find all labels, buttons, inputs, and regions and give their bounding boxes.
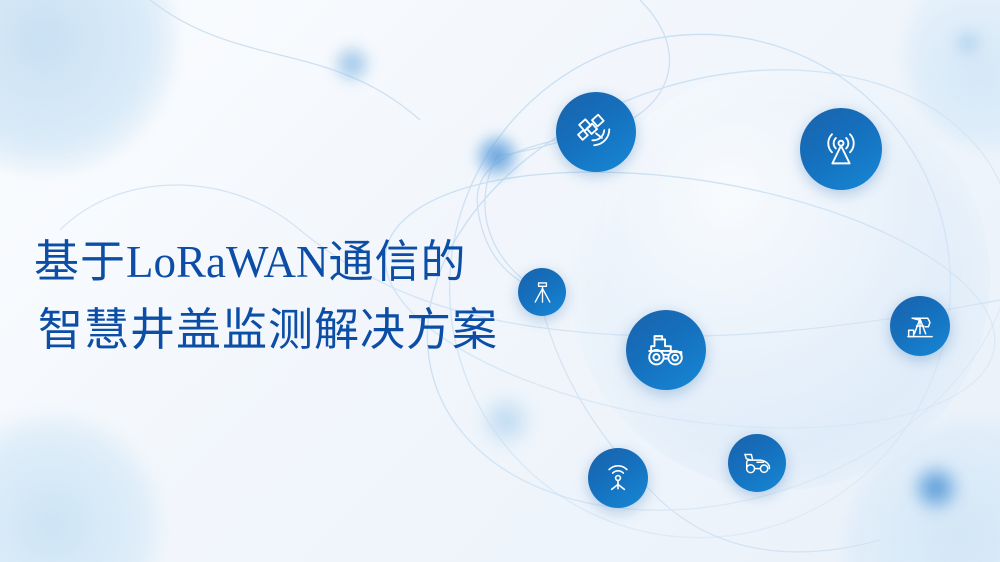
title-block: 基于LoRaWAN通信的 智慧井盖监测解决方案	[34, 228, 498, 364]
node-oil-pump[interactable]	[890, 296, 950, 356]
page-title-line-1: 基于LoRaWAN通信的	[34, 228, 498, 296]
node-radio-tower[interactable]	[800, 108, 882, 190]
title-prefix: 基于	[34, 236, 126, 287]
node-satellite[interactable]	[556, 92, 636, 172]
glow-dot	[478, 393, 534, 449]
glow-dot	[910, 462, 962, 514]
background-blob-bottom-left	[0, 415, 162, 562]
node-sensor-beacon[interactable]	[588, 448, 648, 508]
satellite-dish-icon	[574, 110, 618, 154]
page-title-line-2: 智慧井盖监测解决方案	[34, 296, 498, 364]
harvester-icon	[740, 446, 774, 480]
node-survey-tripod[interactable]	[518, 268, 566, 316]
glow-dot	[330, 42, 374, 86]
node-harvester[interactable]	[728, 434, 786, 492]
radio-tower-icon	[818, 126, 864, 172]
glow-dot	[950, 25, 986, 61]
glow-dot	[472, 131, 522, 181]
tractor-icon	[643, 327, 689, 373]
title-suffix: 通信的	[328, 236, 466, 287]
node-tractor[interactable]	[626, 310, 706, 390]
oil-pumpjack-icon	[903, 309, 937, 343]
title-latin-lorawan: LoRaWAN	[126, 237, 328, 287]
background-blob-top-left	[0, 0, 178, 174]
sensor-beacon-icon	[601, 461, 635, 495]
slide-canvas: 基于LoRaWAN通信的 智慧井盖监测解决方案	[0, 0, 1000, 562]
survey-tripod-icon	[529, 279, 556, 306]
